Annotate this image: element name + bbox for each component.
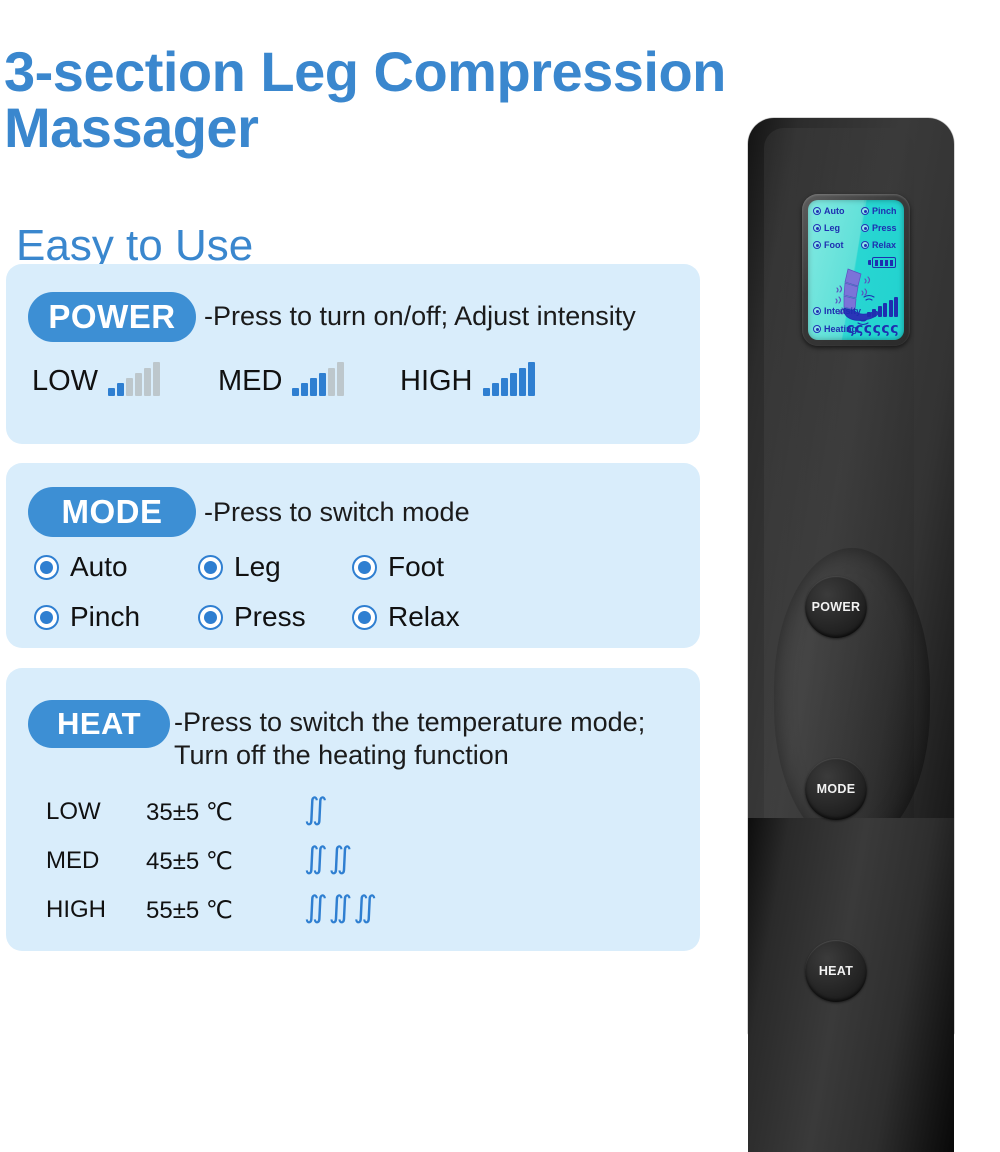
- lcd-label-auto: Auto: [824, 206, 845, 216]
- radio-icon-relax: [352, 605, 377, 630]
- intensity-item-low: LOW: [32, 362, 160, 396]
- radio-icon-lcd-auto: [813, 207, 821, 215]
- lcd-label-relax: Relax: [872, 240, 896, 250]
- heat-panel: HEAT -Press to switch the temperature mo…: [6, 668, 700, 951]
- mode-label-press: Press: [234, 601, 306, 633]
- radio-icon-leg: [198, 555, 223, 580]
- heat-temp-low: 35±5 ℃: [146, 798, 233, 827]
- heat-level-high: HIGH: [46, 896, 106, 924]
- intensity-label-med: MED: [218, 366, 282, 396]
- lcd-mode-auto: Auto: [813, 206, 845, 216]
- heat-level-med: MED: [46, 847, 99, 875]
- lcd-intensity-row: Intensity: [813, 306, 861, 316]
- heat-pill-label: HEAT: [28, 700, 170, 748]
- mode-option-press: Press: [198, 601, 306, 633]
- mode-label-auto: Auto: [70, 551, 128, 583]
- mode-label-pinch: Pinch: [70, 601, 140, 633]
- power-description: -Press to turn on/off; Adjust intensity: [204, 300, 636, 333]
- heat-wave-icon-med: ∬∬: [304, 841, 353, 876]
- mode-description: -Press to switch mode: [204, 496, 470, 529]
- device-heat-button[interactable]: HEAT: [805, 940, 867, 1002]
- table-row: HIGH 55±5 ℃ ∬∬∬: [36, 890, 676, 939]
- mode-option-leg: Leg: [198, 551, 281, 583]
- signal-bars-icon-high: [483, 362, 535, 396]
- mode-label-relax: Relax: [388, 601, 460, 633]
- radio-icon-lcd-press: [861, 224, 869, 232]
- lcd-mode-foot: Foot: [813, 240, 844, 250]
- radio-icon-auto: [34, 555, 59, 580]
- intensity-item-high: HIGH: [400, 362, 535, 396]
- lcd-mode-leg: Leg: [813, 223, 840, 233]
- mode-label-foot: Foot: [388, 551, 444, 583]
- heat-description: -Press to switch the temperature mode; T…: [174, 706, 704, 772]
- radio-icon-lcd-heating: [813, 325, 821, 333]
- device-mode-button[interactable]: MODE: [805, 758, 867, 820]
- lcd-screen: Auto Pinch Leg Press: [808, 200, 904, 340]
- mode-pill-label: MODE: [28, 487, 196, 537]
- mode-label-leg: Leg: [234, 551, 281, 583]
- lcd-mode-relax: Relax: [861, 240, 896, 250]
- intensity-label-high: HIGH: [400, 366, 473, 396]
- lcd-label-intensity: Intensity: [824, 306, 861, 316]
- table-row: MED 45±5 ℃ ∬∬: [36, 841, 676, 890]
- lcd-mode-press: Press: [861, 223, 897, 233]
- signal-bars-icon-low: [108, 362, 160, 396]
- lcd-label-press: Press: [872, 223, 897, 233]
- radio-icon-lcd-intensity: [813, 307, 821, 315]
- lcd-label-leg: Leg: [824, 223, 840, 233]
- mode-option-auto: Auto: [34, 551, 128, 583]
- remote-controller-device: Auto Pinch Leg Press: [748, 118, 954, 1034]
- table-row: LOW 35±5 ℃ ∬: [36, 792, 676, 841]
- lcd-label-pinch: Pinch: [872, 206, 897, 216]
- mode-option-pinch: Pinch: [34, 601, 140, 633]
- mode-option-relax: Relax: [352, 601, 460, 633]
- infographic-page: 3-section Leg Compression Massager Easy …: [0, 0, 1000, 1034]
- radio-icon-lcd-leg: [813, 224, 821, 232]
- heat-wave-icon-low: ∬: [304, 792, 329, 827]
- radio-icon-press: [198, 605, 223, 630]
- radio-icon-lcd-foot: [813, 241, 821, 249]
- heat-temp-high: 55±5 ℃: [146, 896, 233, 925]
- screen-bezel: Auto Pinch Leg Press: [802, 194, 910, 346]
- radio-icon-foot: [352, 555, 377, 580]
- heat-temperature-table: LOW 35±5 ℃ ∬ MED 45±5 ℃ ∬∬ HIGH 55±5 ℃ ∬…: [36, 792, 676, 939]
- signal-bars-icon-med: [292, 362, 344, 396]
- mode-option-foot: Foot: [352, 551, 444, 583]
- radio-icon-pinch: [34, 605, 59, 630]
- lcd-heat-waves-icon: ςςςςςς: [846, 322, 899, 337]
- heat-level-low: LOW: [46, 798, 101, 826]
- lcd-label-foot: Foot: [824, 240, 844, 250]
- power-panel: POWER -Press to turn on/off; Adjust inte…: [6, 264, 700, 444]
- radio-icon-lcd-pinch: [861, 207, 869, 215]
- device-power-button[interactable]: POWER: [805, 576, 867, 638]
- intensity-item-med: MED: [218, 362, 344, 396]
- heat-wave-icon-high: ∬∬∬: [304, 890, 378, 925]
- radio-icon-lcd-relax: [861, 241, 869, 249]
- heat-temp-med: 45±5 ℃: [146, 847, 233, 876]
- intensity-legend: LOW MED HIGH: [32, 362, 672, 412]
- lcd-intensity-bars-icon: [867, 297, 899, 317]
- lcd-mode-pinch: Pinch: [861, 206, 897, 216]
- mode-panel: MODE -Press to switch mode Auto Leg Foot…: [6, 463, 700, 648]
- intensity-label-low: LOW: [32, 366, 98, 396]
- power-pill-label: POWER: [28, 292, 196, 342]
- section-subtitle: Easy to Use: [16, 223, 253, 269]
